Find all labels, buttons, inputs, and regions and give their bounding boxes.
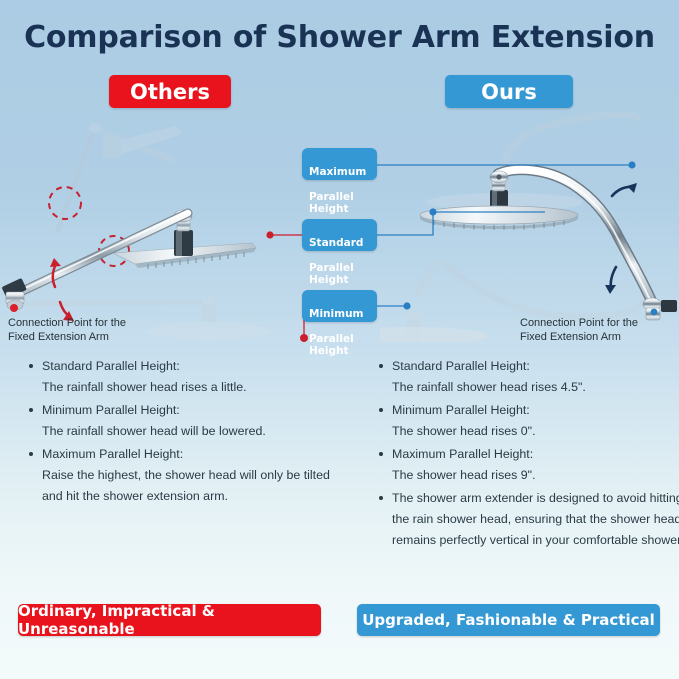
bullet-heading: Maximum Parallel Height: bbox=[392, 444, 679, 465]
callout-minimum-line2: Parallel Height bbox=[309, 333, 354, 358]
list-item: Maximum Parallel Height: The shower head… bbox=[378, 444, 679, 486]
callout-maximum-parallel-height: Maximum Parallel Height bbox=[302, 148, 377, 180]
page-title: Comparison of Shower Arm Extension bbox=[0, 20, 679, 55]
bullet-dot-icon bbox=[379, 408, 383, 412]
list-item: Standard Parallel Height: The rainfall s… bbox=[378, 356, 679, 398]
callout-maximum-line1: Maximum bbox=[309, 166, 366, 178]
bullet-heading: Maximum Parallel Height: bbox=[42, 444, 338, 465]
bullet-list-ours: Standard Parallel Height: The rainfall s… bbox=[378, 356, 679, 553]
connection-point-caption-right: Connection Point for the Fixed Extension… bbox=[520, 316, 679, 344]
connection-point-caption-left: Connection Point for the Fixed Extension… bbox=[8, 316, 168, 344]
bullet-heading: Minimum Parallel Height: bbox=[42, 400, 338, 421]
extension-arm-curved bbox=[498, 170, 652, 302]
bullet-dot-icon bbox=[379, 452, 383, 456]
connection-caption-right-line2: Fixed Extension Arm bbox=[520, 331, 621, 343]
callout-minimum-parallel-height: Minimum Parallel Height bbox=[302, 290, 377, 322]
list-item: Minimum Parallel Height: The rainfall sh… bbox=[28, 400, 338, 442]
illustration-others bbox=[0, 112, 300, 342]
bullet-dot-icon bbox=[29, 364, 33, 368]
bullet-heading: Minimum Parallel Height: bbox=[392, 400, 679, 421]
verdict-banner-ours: Upgraded, Fashionable & Practical bbox=[357, 604, 660, 636]
badge-others: Others bbox=[109, 75, 231, 108]
connection-caption-left-line1: Connection Point for the bbox=[8, 317, 126, 329]
connector-dot-minimum bbox=[300, 334, 308, 342]
list-item: The shower arm extender is designed to a… bbox=[378, 488, 679, 551]
illustration-ours bbox=[380, 112, 679, 342]
wall-connection-point-left bbox=[1, 278, 26, 312]
callout-standard-line1: Standard bbox=[309, 237, 363, 249]
verdict-banner-others: Ordinary, Impractical & Unreasonable bbox=[18, 604, 321, 636]
connection-caption-left-line2: Fixed Extension Arm bbox=[8, 331, 109, 343]
rotation-arrow-head-up bbox=[50, 258, 61, 267]
callout-maximum-line2: Parallel Height bbox=[309, 191, 354, 216]
bullet-dot-icon bbox=[29, 452, 33, 456]
shower-head-level bbox=[420, 206, 578, 230]
callout-minimum-line1: Minimum bbox=[309, 308, 363, 320]
connection-caption-right-line1: Connection Point for the bbox=[520, 317, 638, 329]
ghost-shower-head-lower bbox=[380, 327, 488, 342]
list-item: Minimum Parallel Height: The shower head… bbox=[378, 400, 679, 442]
callout-standard-parallel-height: Standard Parallel Height bbox=[302, 219, 377, 251]
bullet-body: The shower arm extender is designed to a… bbox=[392, 488, 679, 551]
bullet-heading: Standard Parallel Height: bbox=[42, 356, 338, 377]
bullet-body: Raise the highest, the shower head will … bbox=[42, 465, 338, 507]
bullet-body: The shower head rises 0". bbox=[392, 421, 679, 442]
bullet-dot-icon bbox=[379, 496, 383, 500]
list-item: Maximum Parallel Height: Raise the highe… bbox=[28, 444, 338, 507]
bullet-body: The shower head rises 9". bbox=[392, 465, 679, 486]
rotation-arrow-head-down bbox=[605, 285, 616, 294]
bullet-body: The rainfall shower head rises a little. bbox=[42, 377, 338, 398]
bullet-heading: Standard Parallel Height: bbox=[392, 356, 679, 377]
infographic-root: Comparison of Shower Arm Extension Other… bbox=[0, 0, 679, 679]
bullet-body: The rainfall shower head rises 4.5". bbox=[392, 377, 679, 398]
bullet-dot-icon bbox=[29, 408, 33, 412]
bullet-list-others: Standard Parallel Height: The rainfall s… bbox=[28, 356, 338, 509]
bullet-body: The rainfall shower head will be lowered… bbox=[42, 421, 338, 442]
callout-standard-line2: Parallel Height bbox=[309, 262, 354, 287]
badge-ours: Ours bbox=[445, 75, 573, 108]
ghost-arm-maximum bbox=[427, 114, 638, 211]
bullet-dot-icon bbox=[379, 364, 383, 368]
list-item: Standard Parallel Height: The rainfall s… bbox=[28, 356, 338, 398]
